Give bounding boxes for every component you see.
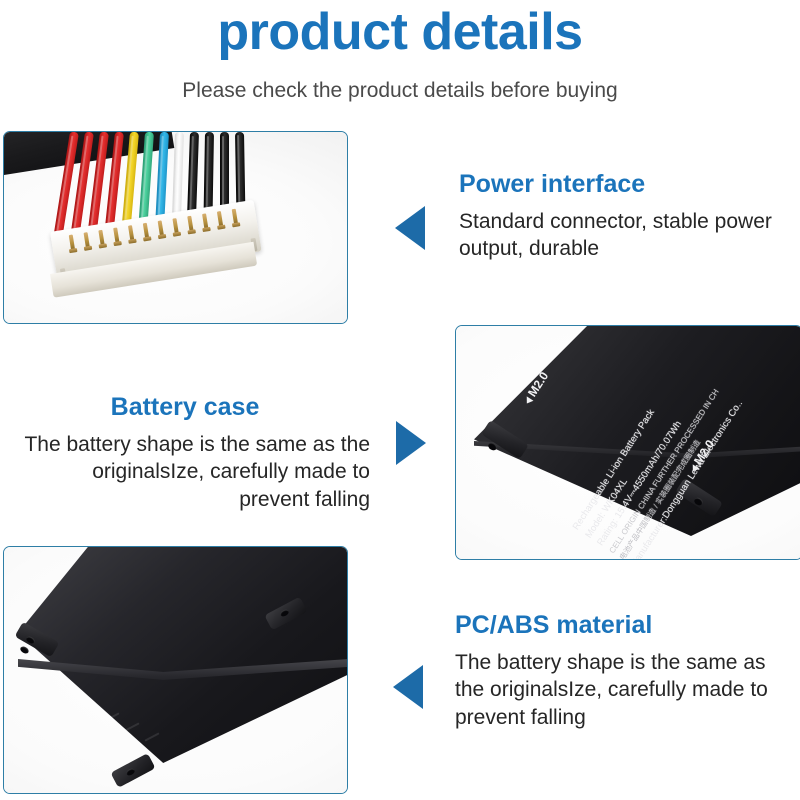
pin-foot — [113, 241, 122, 246]
pin-foot — [158, 234, 167, 239]
page-header: product details Please check the product… — [0, 0, 800, 101]
section-pc-abs-material: PC/ABS material The battery shape is the… — [455, 612, 775, 732]
pin-foot — [128, 239, 137, 244]
arrow-left-icon-power-interface — [395, 206, 425, 250]
pin-foot — [202, 227, 211, 232]
section-title-battery-case: Battery case — [18, 394, 370, 422]
pin-foot — [143, 236, 152, 241]
section-title-power-interface: Power interface — [459, 171, 789, 199]
section-power-interface: Power interface Standard connector, stab… — [459, 171, 789, 263]
pin-foot — [99, 243, 108, 248]
battery-case-photo-frame — [3, 546, 348, 794]
connector-photo — [4, 132, 347, 323]
page-subtitle: Please check the product details before … — [0, 80, 800, 101]
arrow-left-icon-pc-abs-material — [393, 665, 423, 709]
section-title-pc-abs-material: PC/ABS material — [455, 612, 775, 640]
pin-foot — [173, 232, 182, 237]
section-body-pc-abs-material: The battery shape is the same as the ori… — [455, 649, 775, 732]
section-battery-case: Battery case The battery shape is the sa… — [18, 394, 370, 514]
section-body-battery-case: The battery shape is the same as the ori… — [18, 431, 370, 514]
pin-foot — [187, 229, 196, 234]
arrow-right-icon-battery-case — [396, 421, 426, 465]
page-title: product details — [0, 6, 800, 58]
battery-label-photo: M2.0 M2.0 Rechargeable Li-ion Battery Pa… — [456, 326, 800, 559]
pin-foot — [84, 246, 93, 251]
battery-case-photo — [4, 547, 347, 793]
battery-label-photo-frame: M2.0 M2.0 Rechargeable Li-ion Battery Pa… — [455, 325, 800, 560]
pin-foot — [232, 222, 241, 227]
pin-foot — [217, 225, 226, 230]
pin-foot — [69, 248, 78, 253]
section-body-power-interface: Standard connector, stable power output,… — [459, 208, 789, 263]
connector-photo-frame — [3, 131, 348, 324]
